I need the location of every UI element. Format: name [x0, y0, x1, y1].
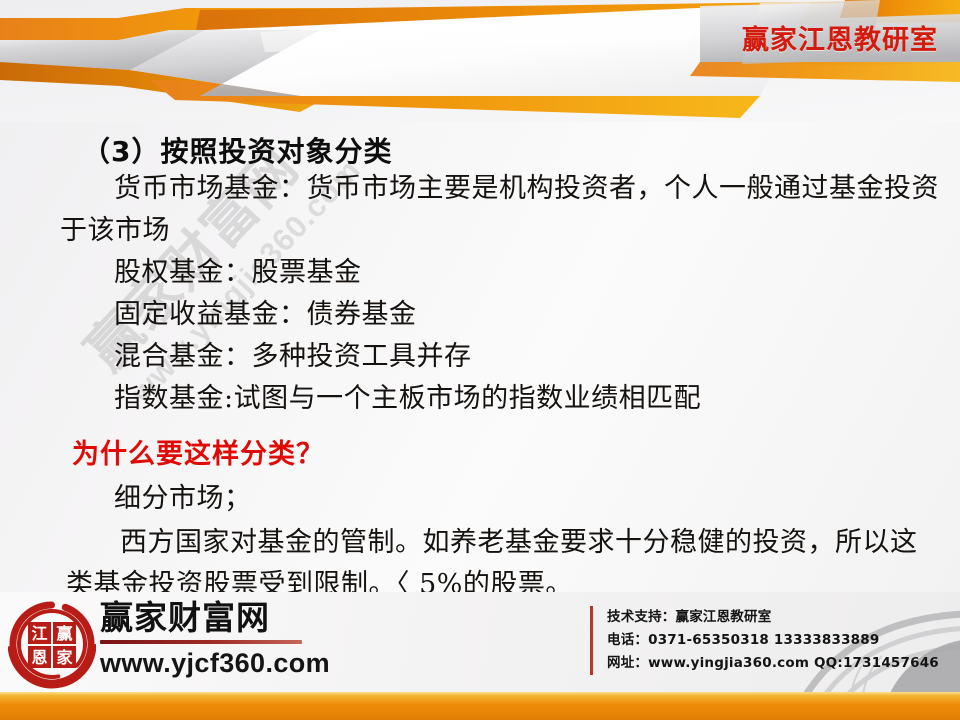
question-heading: 为什么要这样分类？ — [72, 432, 324, 471]
contact-block: 技术支持：赢家江恩教研室 电话：0371-65350318 1333383388… — [590, 606, 939, 675]
contact-support: 技术支持：赢家江恩教研室 — [607, 606, 939, 629]
brand-name: 赢家财富网 — [100, 598, 350, 638]
paragraph-hybrid-fund: 混合基金：多种投资工具并存 — [60, 336, 940, 378]
paragraph-fixed-income-fund: 固定收益基金：债券基金 — [60, 294, 940, 336]
footer: 江 赢 恩 家 赢家财富网 www.yjcf360.com 技术支持：赢家江恩教… — [0, 592, 960, 720]
contact-phone: 电话：0371-65350318 13333833889 — [607, 629, 939, 652]
header-title: 赢家江恩教研室 — [742, 18, 938, 57]
answer-segmented-market: 细分市场； — [60, 478, 940, 520]
header-banner: 赢家江恩教研室 — [0, 0, 960, 122]
brand-url: www.yjcf360.com — [100, 648, 350, 679]
paragraph-money-market-fund: 货币市场基金：货币市场主要是机构投资者，个人一般通过基金投资于该市场 — [60, 168, 940, 252]
slide-content: （3）按照投资对象分类 货币市场基金：货币市场主要是机构投资者，个人一般通过基金… — [0, 122, 960, 592]
brand-block: 赢家财富网 www.yjcf360.com — [100, 598, 350, 679]
page-title: （3）按照投资对象分类 — [82, 130, 392, 170]
paragraph-index-fund: 指数基金:试图与一个主板市场的指数业绩相匹配 — [60, 378, 940, 420]
paragraph-equity-fund: 股权基金：股票基金 — [60, 252, 940, 294]
slide-canvas: 赢家江恩教研室 赢家财富网 www.yingjia360.com （3）按照投资… — [0, 0, 960, 720]
brand-divider — [100, 640, 302, 644]
footer-accent-bar — [0, 695, 960, 720]
logo-seal-icon: 江 赢 恩 家 — [8, 596, 96, 692]
contact-website: 网址：www.yingjia360.com QQ:1731457646 — [607, 652, 939, 675]
